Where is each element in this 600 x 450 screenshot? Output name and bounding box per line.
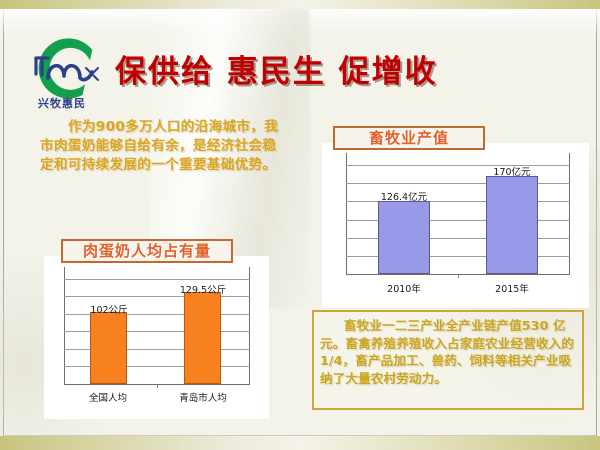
plot-area: 102公斤 129.5公斤 全国人均 青岛市人均 [64, 279, 250, 385]
gridline [64, 279, 250, 280]
bar-2015 [486, 176, 538, 274]
plot-area: 126.4亿元 170亿元 2010年 2015年 [346, 165, 570, 275]
intro-paragraph: 作为900多万人口的沿海城市，我市肉蛋奶能够自给有余，是经济社会稳定和可持续发展… [40, 118, 285, 175]
bottom-accent-bar [0, 436, 600, 450]
bar-qingdao-average [184, 292, 221, 384]
note-box-text: 畜牧业一二三产业全产业链产值530 亿元。畜禽养殖养殖收入占家庭农业经营收入的1… [320, 317, 576, 387]
category-label-national: 全国人均 [76, 390, 140, 404]
chart-title-per-capita: 肉蛋奶人均占有量 [61, 239, 233, 263]
page-title: 保供给 惠民生 促增收 [115, 46, 585, 91]
bar-value-label-qingdao: 129.5公斤 [164, 282, 242, 296]
bar-2010 [378, 201, 430, 274]
y-axis-line [64, 267, 65, 385]
chart-title-livestock-output: 畜牧业产值 [333, 126, 485, 150]
y-axis-right-line [249, 267, 250, 385]
gridline [64, 296, 250, 297]
slide-canvas: 兴牧惠民 保供给 惠民生 促增收 作为900多万人口的沿海城市，我市肉蛋奶能够自… [0, 0, 600, 450]
chart-per-capita-meat-egg-milk: 102公斤 129.5公斤 全国人均 青岛市人均 [44, 256, 269, 419]
axis-tick [157, 385, 158, 388]
bar-value-label-2015: 170亿元 [472, 164, 552, 178]
note-box: 畜牧业一二三产业全产业链产值530 亿元。畜禽养殖养殖收入占家庭农业经营收入的1… [312, 310, 584, 410]
category-label-2015: 2015年 [480, 281, 544, 295]
bar-national-average [90, 312, 127, 384]
top-accent-bar [0, 0, 600, 9]
logo-caption: 兴牧惠民 [20, 95, 104, 111]
category-label-2010: 2010年 [372, 281, 436, 295]
bar-value-label-national: 102公斤 [71, 302, 147, 316]
bar-value-label-2010: 126.4亿元 [360, 189, 448, 203]
chart-livestock-output-value: 126.4亿元 170亿元 2010年 2015年 [322, 143, 589, 308]
category-label-qingdao: 青岛市人均 [167, 390, 239, 404]
axis-tick [458, 275, 459, 278]
